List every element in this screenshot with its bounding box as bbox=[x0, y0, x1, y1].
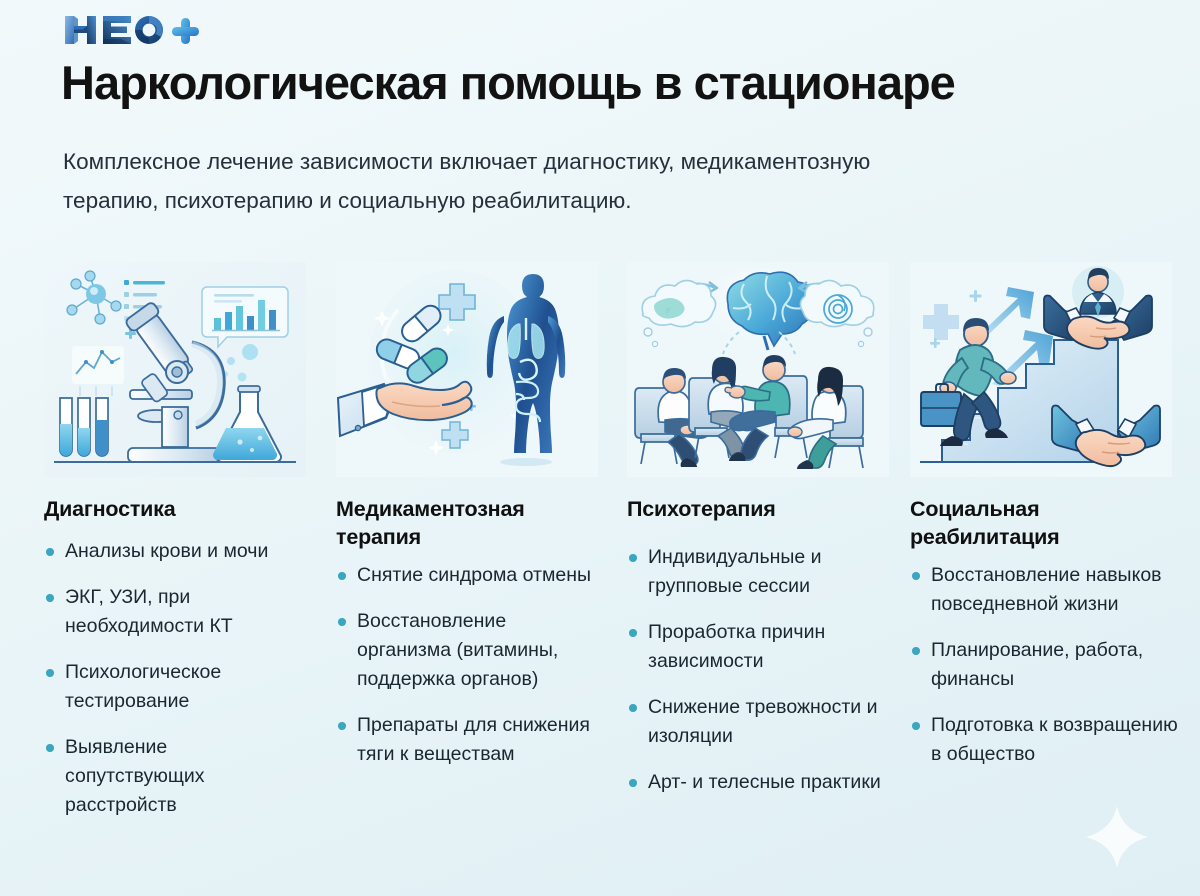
page-subtitle: Комплексное лечение зависимости включает… bbox=[63, 142, 953, 220]
logo-plus-icon bbox=[172, 18, 199, 44]
column-diagnostics: Диагностика Анализы крови и мочи ЭКГ, УЗ… bbox=[44, 262, 324, 837]
list-item: Выявление сопутствующих расстройств bbox=[44, 733, 312, 820]
column-social-rehabilitation: Социальная реабилитация Восстановление н… bbox=[910, 262, 1190, 786]
column-bullet-list: Снятие синдрома отмены Восстановление ор… bbox=[336, 561, 604, 769]
list-item: ЭКГ, УЗИ, при необходимости КТ bbox=[44, 583, 312, 641]
illustration-group-therapy-circle-with-brain bbox=[627, 262, 889, 477]
test-tubes-icon bbox=[60, 398, 108, 456]
list-item: Планирование, работа, финансы bbox=[910, 636, 1178, 694]
decorative-sparkle-icon bbox=[1086, 806, 1148, 868]
list-item: Анализы крови и мочи bbox=[44, 537, 312, 566]
list-item: Проработка причин зависимости bbox=[627, 618, 895, 676]
list-item: Препараты для снижения тяги к веществам bbox=[336, 711, 604, 769]
list-item: Восстановление организма (витамины, подд… bbox=[336, 607, 604, 694]
column-bullet-list: Восстановление навыков повседневной жизн… bbox=[910, 561, 1178, 769]
column-heading: Медикаментозная терапия bbox=[336, 495, 594, 551]
page-title: Наркологическая помощь в стационаре bbox=[61, 58, 1161, 109]
column-psychotherapy: Психотерапия Индивидуальные и групповые … bbox=[627, 262, 907, 814]
list-item: Снятие синдрома отмены bbox=[336, 561, 604, 590]
column-heading: Социальная реабилитация bbox=[910, 495, 1168, 551]
column-heading: Психотерапия bbox=[627, 495, 885, 523]
list-item: Снижение тревожности и изоляции bbox=[627, 693, 895, 751]
column-heading: Диагностика bbox=[44, 495, 302, 523]
column-bullet-list: Анализы крови и мочи ЭКГ, УЗИ, при необх… bbox=[44, 537, 312, 820]
illustration-microscope-lab-diagnostics bbox=[44, 262, 306, 477]
list-item: Восстановление навыков повседневной жизн… bbox=[910, 561, 1178, 619]
list-item: Индивидуальные и групповые сессии bbox=[627, 543, 895, 601]
list-item: Арт- и телесные практики bbox=[627, 768, 895, 797]
illustration-hand-with-pills-and-body bbox=[336, 262, 598, 477]
logo-letter-e bbox=[103, 16, 131, 44]
logo-letter-o bbox=[135, 16, 163, 44]
column-bullet-list: Индивидуальные и групповые сессии Прораб… bbox=[627, 543, 895, 797]
list-item: Психологическое тестирование bbox=[44, 658, 312, 716]
column-medication-therapy: Медикаментозная терапия Снятие синдрома … bbox=[336, 262, 616, 786]
logo-letter-n bbox=[65, 16, 96, 44]
brand-logo bbox=[63, 10, 203, 50]
list-item: Подготовка к возвращению в общество bbox=[910, 711, 1178, 769]
illustration-career-stairs-and-handshakes bbox=[910, 262, 1172, 477]
